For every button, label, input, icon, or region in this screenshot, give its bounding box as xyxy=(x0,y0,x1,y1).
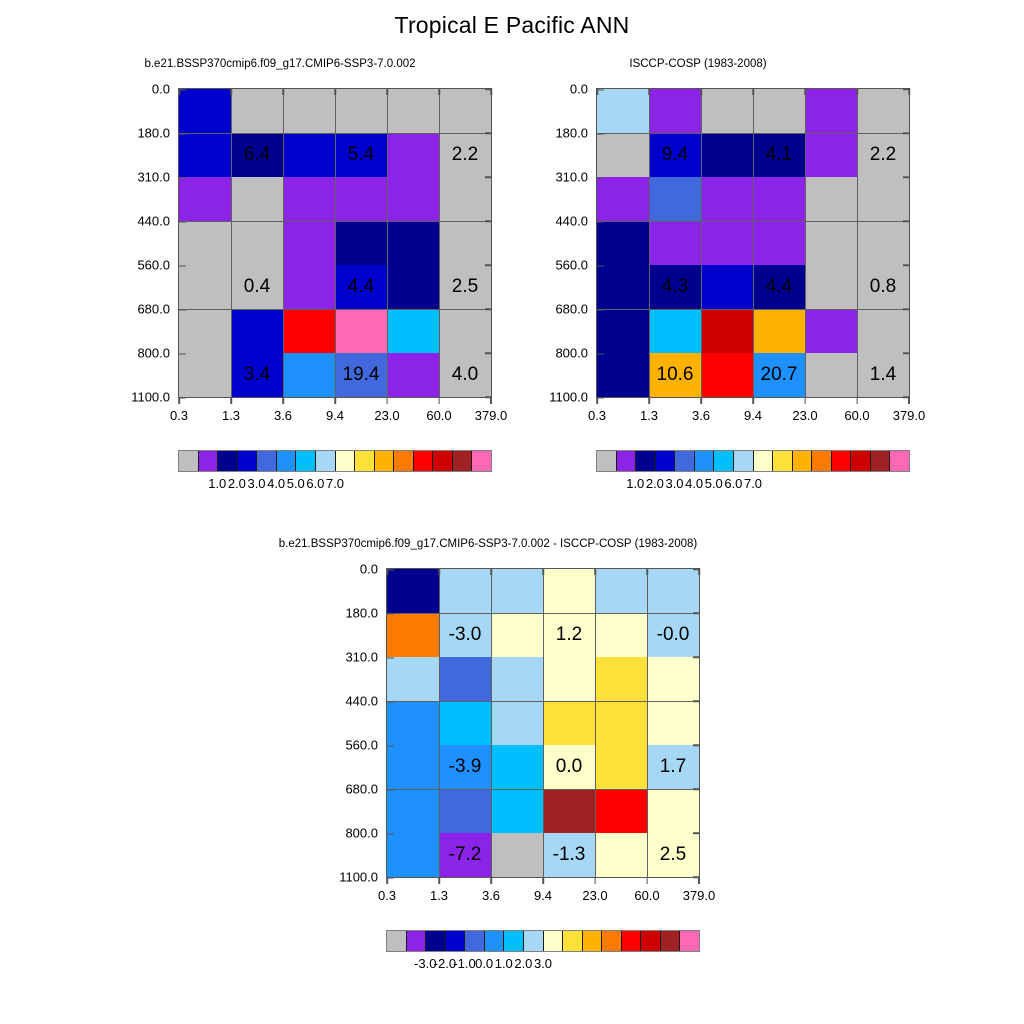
heatmap-cell xyxy=(387,701,439,745)
heatmap-cell xyxy=(231,89,283,133)
colorbar-tick-label: 2.0 xyxy=(514,956,532,971)
heatmap-cell xyxy=(805,353,857,397)
y-axis-tick-label: 180.0 xyxy=(555,126,597,141)
x-axis-tick-mark-top xyxy=(334,88,336,95)
cell-value-label: -3.9 xyxy=(449,756,482,778)
heatmap-cell xyxy=(335,177,387,221)
colorbar-segment xyxy=(617,451,637,471)
colorbar-segment xyxy=(583,931,603,951)
heatmap-cell xyxy=(753,221,805,265)
cell-value-label: 19.4 xyxy=(343,364,380,386)
heatmap-cell xyxy=(387,177,439,221)
heatmap-cell xyxy=(753,177,805,221)
page-title: Tropical E Pacific ANN xyxy=(0,12,1024,39)
x-axis-tick-mark-top xyxy=(908,88,910,95)
colorbar-segment xyxy=(446,931,466,951)
x-axis-tick-mark-top xyxy=(648,88,650,95)
heatmap-cell xyxy=(805,89,857,133)
y-axis-tick-mark xyxy=(693,656,700,658)
heatmap-cell xyxy=(701,177,753,221)
colorbar-tick-label: 2.0 xyxy=(646,476,664,491)
colorbar-segment xyxy=(277,451,297,471)
heatmap-cell xyxy=(701,89,753,133)
cell-value-label: -0.0 xyxy=(657,624,690,646)
colorbar-tick-label: 3.0 xyxy=(247,476,265,491)
colorbar-tick-label: -1.0 xyxy=(453,956,475,971)
heatmap-cell xyxy=(597,353,649,397)
x-axis-tick-mark-top xyxy=(804,88,806,95)
heatmap-cell xyxy=(491,569,543,613)
heatmap-cell xyxy=(491,701,543,745)
colorbar-tick-label: 3.0 xyxy=(665,476,683,491)
heatmap-cell xyxy=(649,89,701,133)
heatmap-cell xyxy=(857,89,909,133)
heatmap-cell xyxy=(491,745,543,789)
heatmap-cell xyxy=(649,309,701,353)
heatmap-cell xyxy=(387,89,439,133)
x-axis-tick-label: 60.0 xyxy=(634,877,659,903)
cell-value-label: 0.4 xyxy=(244,276,270,298)
y-axis-tick-label: 0.0 xyxy=(152,82,179,97)
heatmap-cell xyxy=(649,177,701,221)
heatmap-cell xyxy=(595,657,647,701)
heatmap-cell xyxy=(491,833,543,877)
heatmap-cell xyxy=(595,833,647,877)
heatmap-cell xyxy=(387,789,439,833)
colorbar-segment xyxy=(675,451,695,471)
colorbar-segment xyxy=(636,451,656,471)
heatmap-cell xyxy=(439,657,491,701)
heatmap-cell xyxy=(179,133,231,177)
cell-value-label: -1.3 xyxy=(553,844,586,866)
colorbar-tick-label: 2.0 xyxy=(228,476,246,491)
x-axis-tick-label: 60.0 xyxy=(844,397,869,423)
cell-value-label: 5.4 xyxy=(348,144,374,166)
heatmap-cell xyxy=(701,353,753,397)
colorbar-segment xyxy=(641,931,661,951)
cell-value-label: 0.8 xyxy=(870,276,896,298)
y-axis-tick-mark xyxy=(903,220,910,222)
x-axis-tick-label: 3.6 xyxy=(482,877,500,903)
cell-value-label: 4.4 xyxy=(348,276,374,298)
heatmap-cell xyxy=(805,177,857,221)
heatmap-cell xyxy=(491,657,543,701)
heatmap-cell xyxy=(597,265,649,309)
heatmap-cell xyxy=(179,177,231,221)
x-axis-tick-label: 9.4 xyxy=(744,397,762,423)
y-axis-tick-mark xyxy=(903,132,910,134)
heatmap-cell xyxy=(335,221,387,265)
colorbar-segment xyxy=(485,931,505,951)
cell-value-label: 4.4 xyxy=(766,276,792,298)
x-axis-tick-label: 1.3 xyxy=(640,397,658,423)
y-axis-tick-label: 310.0 xyxy=(555,170,597,185)
x-axis-tick-mark-top xyxy=(490,568,492,575)
heatmap-cell xyxy=(595,745,647,789)
y-axis-tick-mark xyxy=(693,612,700,614)
panel-difference-title: b.e21.BSSP370cmip6.f09_g17.CMIP6-SSP3-7.… xyxy=(208,538,768,550)
cell-value-label: 10.6 xyxy=(657,364,694,386)
colorbar-segment xyxy=(524,931,544,951)
panel-observation: ISCCP-COSP (1983-2008) 0.0180.0310.0440.… xyxy=(458,58,928,498)
heatmap-cell xyxy=(439,701,491,745)
colorbar-tick-label: 0.0 xyxy=(475,956,493,971)
heatmap-cell xyxy=(701,133,753,177)
colorbar-tick-label: 4.0 xyxy=(685,476,703,491)
heatmap-cell xyxy=(387,569,439,613)
x-axis-tick-mark-top xyxy=(596,88,598,95)
heatmap-cell xyxy=(491,789,543,833)
cell-value-label: 0.0 xyxy=(556,756,582,778)
y-axis-tick-label: 680.0 xyxy=(555,302,597,317)
colorbar-tick-label: 1.0 xyxy=(208,476,226,491)
heatmap-cell xyxy=(647,569,699,613)
colorbar-tick-label: 1.0 xyxy=(626,476,644,491)
x-axis-tick-mark-top xyxy=(594,568,596,575)
colorbar-segment xyxy=(355,451,375,471)
colorbar-tick-label: 5.0 xyxy=(287,476,305,491)
y-axis-tick-label: 440.0 xyxy=(345,694,387,709)
heatmap-cell xyxy=(179,353,231,397)
heatmap-cell xyxy=(805,221,857,265)
heatmap-cell xyxy=(753,309,805,353)
colorbar-segment xyxy=(407,931,427,951)
y-axis-tick-label: 800.0 xyxy=(137,346,179,361)
colorbar-strip xyxy=(596,450,910,472)
x-axis-tick-label: 0.3 xyxy=(170,397,188,423)
colorbar-segment xyxy=(465,931,485,951)
y-axis-tick-label: 560.0 xyxy=(555,258,597,273)
colorbar-segment xyxy=(296,451,316,471)
heatmap-cell xyxy=(595,569,647,613)
heatmap-cell xyxy=(543,657,595,701)
heatmap-cell xyxy=(597,89,649,133)
heatmap-cell xyxy=(647,789,699,833)
colorbar-segment xyxy=(199,451,219,471)
y-axis-tick-mark xyxy=(903,352,910,354)
heatmap-cell xyxy=(387,265,439,309)
heatmap-cell xyxy=(543,569,595,613)
x-axis-tick-label: 23.0 xyxy=(374,397,399,423)
heatmap-cell xyxy=(701,309,753,353)
y-axis-tick-label: 800.0 xyxy=(345,826,387,841)
y-axis-tick-label: 310.0 xyxy=(345,650,387,665)
x-axis-tick-mark-top xyxy=(386,88,388,95)
heatmap-cell xyxy=(439,569,491,613)
heatmap-cell xyxy=(595,613,647,657)
heatmap-cell xyxy=(283,133,335,177)
heatmap-cell xyxy=(231,309,283,353)
heatmap-grid xyxy=(597,89,909,397)
colorbar-segment xyxy=(773,451,793,471)
heatmap-cell xyxy=(179,221,231,265)
heatmap-cell xyxy=(231,177,283,221)
heatmap-model[interactable]: 0.0180.0310.0440.0560.0680.0800.01100.00… xyxy=(178,88,492,398)
heatmap-cell xyxy=(387,133,439,177)
heatmap-cell xyxy=(179,309,231,353)
y-axis-tick-mark xyxy=(693,788,700,790)
colorbar-segment xyxy=(680,931,699,951)
colorbar-segment xyxy=(871,451,891,471)
colorbar-tick-label: 6.0 xyxy=(306,476,324,491)
y-axis-tick-label: 560.0 xyxy=(345,738,387,753)
heatmap-cell xyxy=(491,613,543,657)
colorbar-segment xyxy=(714,451,734,471)
colorbar-segment xyxy=(336,451,356,471)
cell-value-label: 1.7 xyxy=(660,756,686,778)
cell-value-label: 3.4 xyxy=(244,364,270,386)
colorbar-segment xyxy=(387,931,407,951)
colorbar-segment xyxy=(218,451,238,471)
cell-value-label: -3.0 xyxy=(449,624,482,646)
heatmap-cell xyxy=(649,221,701,265)
heatmap-cell xyxy=(439,789,491,833)
colorbar-segment xyxy=(597,451,617,471)
heatmap-cell xyxy=(283,353,335,397)
y-axis-tick-mark xyxy=(693,832,700,834)
y-axis-tick-label: 560.0 xyxy=(137,258,179,273)
heatmap-cell xyxy=(595,789,647,833)
heatmap-cell xyxy=(283,309,335,353)
heatmap-cell xyxy=(283,177,335,221)
heatmap-grid xyxy=(179,89,491,397)
heatmap-cell xyxy=(597,177,649,221)
x-axis-tick-label: 1.3 xyxy=(430,877,448,903)
heatmap-cell xyxy=(597,133,649,177)
colorbar-segment xyxy=(622,931,642,951)
colorbar-tick-label: 3.0 xyxy=(534,956,552,971)
x-axis-tick-label: 3.6 xyxy=(692,397,710,423)
x-axis-tick-mark-top xyxy=(438,88,440,95)
x-axis-tick-label: 1.3 xyxy=(222,397,240,423)
heatmap-cell xyxy=(387,221,439,265)
colorbar-segment xyxy=(504,931,524,951)
colorbar-segment xyxy=(316,451,336,471)
y-axis-tick-mark xyxy=(903,264,910,266)
y-axis-tick-label: 310.0 xyxy=(137,170,179,185)
heatmap-cell xyxy=(753,89,805,133)
heatmap-cell xyxy=(857,221,909,265)
y-axis-tick-label: 680.0 xyxy=(137,302,179,317)
y-axis-tick-label: 440.0 xyxy=(137,214,179,229)
colorbar-tick-label: 5.0 xyxy=(705,476,723,491)
colorbar-segment xyxy=(754,451,774,471)
x-axis-tick-mark-top xyxy=(438,568,440,575)
heatmap-cell xyxy=(543,701,595,745)
cell-value-label: 4.1 xyxy=(766,144,792,166)
heatmap-cell xyxy=(283,265,335,309)
heatmap-cell xyxy=(335,309,387,353)
x-axis-tick-label: 0.3 xyxy=(588,397,606,423)
colorbar-segment xyxy=(832,451,852,471)
x-axis-tick-label: 60.0 xyxy=(426,397,451,423)
y-axis-tick-label: 0.0 xyxy=(570,82,597,97)
x-axis-tick-label: 0.3 xyxy=(378,877,396,903)
colorbar-tick-label: 6.0 xyxy=(724,476,742,491)
colorbar-segment xyxy=(793,451,813,471)
cell-value-label: 6.4 xyxy=(244,144,270,166)
heatmap-cell xyxy=(387,833,439,877)
heatmap-cell xyxy=(179,89,231,133)
panel-observation-title: ISCCP-COSP (1983-2008) xyxy=(488,58,908,70)
colorbar-segment xyxy=(375,451,395,471)
colorbar-segment xyxy=(563,931,583,951)
colorbar-segment xyxy=(661,931,681,951)
y-axis-tick-label: 440.0 xyxy=(555,214,597,229)
x-axis-tick-mark-top xyxy=(542,568,544,575)
heatmap-cell xyxy=(805,133,857,177)
x-axis-tick-label: 23.0 xyxy=(792,397,817,423)
heatmap-cell xyxy=(387,353,439,397)
cell-value-label: 20.7 xyxy=(761,364,798,386)
x-axis-tick-mark-top xyxy=(700,88,702,95)
cell-value-label: 2.2 xyxy=(870,144,896,166)
x-axis-tick-mark-top xyxy=(752,88,754,95)
x-axis-tick-mark-top xyxy=(282,88,284,95)
colorbar-observation: 1.02.03.04.05.06.07.0 xyxy=(596,450,910,500)
y-axis-tick-label: 680.0 xyxy=(345,782,387,797)
heatmap-difference[interactable]: 0.0180.0310.0440.0560.0680.0800.01100.00… xyxy=(386,568,700,878)
heatmap-cell xyxy=(857,177,909,221)
y-axis-tick-label: 800.0 xyxy=(555,346,597,361)
heatmap-cell xyxy=(231,221,283,265)
colorbar-segment xyxy=(179,451,199,471)
colorbar-segment xyxy=(656,451,676,471)
heatmap-cell xyxy=(387,309,439,353)
colorbar-segment xyxy=(433,451,453,471)
panel-model: b.e21.BSSP370cmip6.f09_g17.CMIP6-SSP3-7.… xyxy=(40,58,510,498)
heatmap-cell xyxy=(387,657,439,701)
colorbar-strip xyxy=(178,450,492,472)
colorbar-segment xyxy=(734,451,754,471)
cell-value-label: 2.5 xyxy=(660,844,686,866)
x-axis-tick-mark-top xyxy=(698,568,700,575)
x-axis-tick-label: 3.6 xyxy=(274,397,292,423)
heatmap-cell xyxy=(543,789,595,833)
y-axis-tick-mark xyxy=(903,308,910,310)
colorbar-tick-label: 1.0 xyxy=(495,956,513,971)
heatmap-observation[interactable]: 0.0180.0310.0440.0560.0680.0800.01100.00… xyxy=(596,88,910,398)
x-axis-tick-label: 9.4 xyxy=(326,397,344,423)
colorbar-segment xyxy=(257,451,277,471)
heatmap-cell xyxy=(387,745,439,789)
x-axis-tick-label: 379.0 xyxy=(683,877,716,903)
y-axis-tick-mark xyxy=(903,176,910,178)
heatmap-cell xyxy=(387,613,439,657)
x-axis-tick-label: 23.0 xyxy=(582,877,607,903)
x-axis-tick-mark-top xyxy=(178,88,180,95)
cell-value-label: -7.2 xyxy=(449,844,482,866)
heatmap-cell xyxy=(857,309,909,353)
panel-difference: b.e21.BSSP370cmip6.f09_g17.CMIP6-SSP3-7.… xyxy=(248,538,718,978)
cell-value-label: 1.2 xyxy=(556,624,582,646)
colorbar-segment xyxy=(394,451,414,471)
cell-value-label: 1.4 xyxy=(870,364,896,386)
heatmap-cell xyxy=(805,309,857,353)
y-axis-tick-label: 180.0 xyxy=(345,606,387,621)
colorbar-strip xyxy=(386,930,700,952)
x-axis-tick-mark-top xyxy=(230,88,232,95)
colorbar-segment xyxy=(238,451,258,471)
y-axis-tick-mark xyxy=(693,700,700,702)
heatmap-cell xyxy=(335,89,387,133)
colorbar-segment xyxy=(602,931,622,951)
x-axis-tick-label: 379.0 xyxy=(893,397,926,423)
heatmap-cell xyxy=(283,221,335,265)
heatmap-cell xyxy=(701,265,753,309)
colorbar-model: 1.02.03.04.05.06.07.0 xyxy=(178,450,492,500)
cell-value-label: 4.3 xyxy=(662,276,688,298)
y-axis-tick-label: 180.0 xyxy=(137,126,179,141)
x-axis-tick-mark-top xyxy=(646,568,648,575)
heatmap-cell xyxy=(647,701,699,745)
colorbar-tick-label: 7.0 xyxy=(326,476,344,491)
heatmap-cell xyxy=(283,89,335,133)
heatmap-cell xyxy=(595,701,647,745)
colorbar-segment xyxy=(544,931,564,951)
heatmap-cell xyxy=(647,657,699,701)
colorbar-segment xyxy=(812,451,832,471)
colorbar-segment xyxy=(426,931,446,951)
x-axis-tick-label: 9.4 xyxy=(534,877,552,903)
colorbar-tick-label: 4.0 xyxy=(267,476,285,491)
heatmap-cell xyxy=(805,265,857,309)
figure-canvas: Tropical E Pacific ANN b.e21.BSSP370cmip… xyxy=(0,0,1024,1024)
colorbar-tick-label: 7.0 xyxy=(744,476,762,491)
colorbar-segment xyxy=(851,451,871,471)
heatmap-cell xyxy=(179,265,231,309)
x-axis-tick-mark-top xyxy=(856,88,858,95)
x-axis-tick-mark-top xyxy=(386,568,388,575)
y-axis-tick-mark xyxy=(693,744,700,746)
colorbar-segment xyxy=(890,451,909,471)
colorbar-segment xyxy=(695,451,715,471)
colorbar-difference: -3.0-2.0-1.00.01.02.03.0 xyxy=(386,930,700,980)
y-axis-tick-label: 0.0 xyxy=(360,562,387,577)
heatmap-cell xyxy=(597,221,649,265)
cell-value-label: 9.4 xyxy=(662,144,688,166)
heatmap-cell xyxy=(701,221,753,265)
heatmap-cell xyxy=(597,309,649,353)
panel-model-title: b.e21.BSSP370cmip6.f09_g17.CMIP6-SSP3-7.… xyxy=(70,58,490,70)
heatmap-grid xyxy=(387,569,699,877)
colorbar-segment xyxy=(414,451,434,471)
